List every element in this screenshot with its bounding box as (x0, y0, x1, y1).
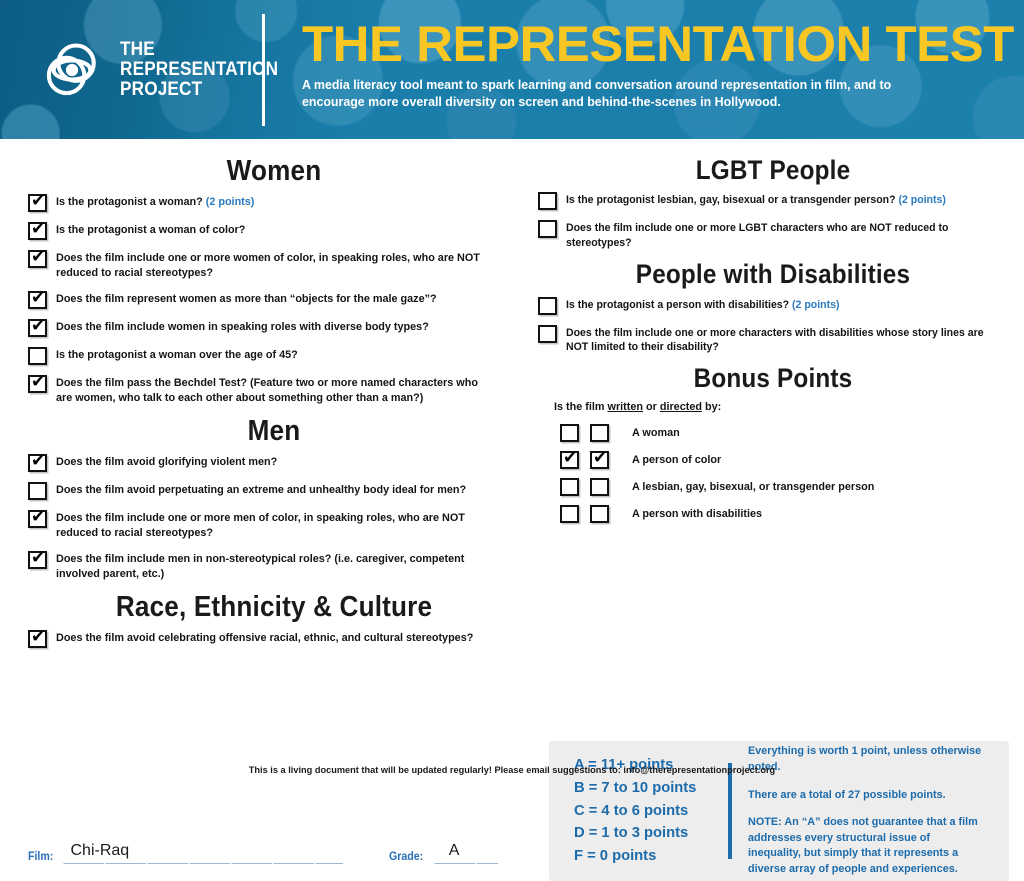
page-footer: This is a living document that will be u… (20, 765, 1003, 776)
checkbox-women-5[interactable] (28, 347, 47, 365)
checkmark-icon: ✔ (563, 449, 577, 467)
checkbox-women-4[interactable]: ✔ (28, 319, 47, 337)
checklist-row-label: Does the film avoid glorifying violent m… (56, 454, 277, 470)
checkbox-women-6[interactable]: ✔ (28, 375, 47, 393)
representation-project-logo-icon (38, 36, 106, 104)
question-list-race: ✔Does the film avoid celebrating offensi… (28, 630, 520, 648)
checkbox-cell (538, 192, 557, 210)
bonus-row[interactable]: A woman (560, 424, 1008, 442)
checkmark-icon: ✔ (31, 549, 45, 567)
checklist-row-label: Does the film include one or more men of… (56, 510, 497, 541)
checkmark-icon: ✔ (31, 192, 45, 210)
grading-scale-divider (728, 763, 732, 859)
checkmark-icon: ✔ (31, 248, 45, 266)
grade-input-value: A (449, 842, 460, 860)
grading-scale-line: F = 0 points (574, 845, 720, 868)
checklist-row-label: Is the protagonist lesbian, gay, bisexua… (566, 192, 946, 207)
checklist-row[interactable]: ✔Does the film represent women as more t… (28, 291, 520, 309)
checklist-row[interactable]: Does the film include one or more charac… (538, 325, 1008, 355)
grade-label: Grade: (389, 851, 423, 864)
checklist-row-points: (2 points) (792, 299, 839, 311)
checkbox-cell: ✔ (28, 319, 47, 337)
checkbox-disabilities-1[interactable] (538, 325, 557, 343)
checkbox-disabilities-0[interactable] (538, 297, 557, 315)
bonus-lead-written: written (608, 401, 643, 413)
checkbox-lgbt-1[interactable] (538, 220, 557, 238)
checklist-row-label: Is the protagonist a woman? (2 points) (56, 194, 254, 210)
checklist-row[interactable]: ✔Does the film pass the Bechdel Test? (F… (28, 375, 520, 406)
page-title: THE REPRESENTATION TEST (302, 19, 1016, 69)
checklist-row-question: Does the film include women in speaking … (56, 321, 429, 333)
checkbox-bonus-directed-0[interactable] (590, 424, 609, 442)
left-column: Women ✔Is the protagonist a woman? (2 po… (28, 147, 520, 658)
checklist-row-label: Does the film pass the Bechdel Test? (Fe… (56, 375, 497, 406)
checklist-row-question: Does the film include men in non-stereot… (56, 553, 464, 580)
checkbox-women-1[interactable]: ✔ (28, 222, 47, 240)
checklist-row-question: Is the protagonist a woman over the age … (56, 349, 298, 361)
checklist-row-question: Is the protagonist a woman? (56, 196, 206, 208)
question-list-women: ✔Is the protagonist a woman? (2 points)✔… (28, 194, 520, 405)
checklist-row[interactable]: ✔Does the film include men in non-stereo… (28, 551, 520, 582)
film-input[interactable]: Chi-Raq (62, 839, 342, 864)
checkbox-men-1[interactable] (28, 482, 47, 500)
checkmark-icon: ✔ (31, 508, 45, 526)
bonus-lead-mid: or (643, 401, 660, 413)
grading-scale-box: A = 11+ pointsB = 7 to 10 pointsC = 4 to… (549, 741, 1009, 881)
checkbox-women-2[interactable]: ✔ (28, 250, 47, 268)
checklist-row[interactable]: ✔Does the film include one or more women… (28, 250, 520, 281)
checklist-row-label: Does the film include women in speaking … (56, 319, 429, 335)
bonus-list: A woman✔✔A person of colorA lesbian, gay… (538, 424, 1008, 523)
checkbox-cell (538, 325, 557, 343)
bonus-row-label: A person with disabilities (632, 508, 762, 520)
question-list-lgbt: Is the protagonist lesbian, gay, bisexua… (538, 192, 1008, 250)
checkbox-bonus-directed-1[interactable]: ✔ (590, 451, 609, 469)
section-heading-men: Men (53, 416, 496, 446)
checklist-row-label: Does the film represent women as more th… (56, 291, 437, 307)
film-label: Film: (28, 851, 53, 864)
checkbox-bonus-directed-2[interactable] (590, 478, 609, 496)
checklist-row-question: Is the protagonist a person with disabil… (566, 299, 792, 311)
grading-scale-line: D = 1 to 3 points (574, 822, 720, 845)
checkmark-icon: ✔ (31, 628, 45, 646)
bonus-row[interactable]: A person with disabilities (560, 505, 1008, 523)
checklist-row[interactable]: Does the film avoid perpetuating an extr… (28, 482, 520, 500)
checkmark-icon: ✔ (593, 449, 607, 467)
checkbox-bonus-written-2[interactable] (560, 478, 579, 496)
checklist-row-question: Does the film include one or more charac… (566, 327, 984, 353)
bonus-row-label: A person of color (632, 454, 721, 466)
right-column: LGBT People Is the protagonist lesbian, … (538, 147, 1008, 532)
checkbox-bonus-written-1[interactable]: ✔ (560, 451, 579, 469)
checklist-row[interactable]: ✔Does the film include one or more men o… (28, 510, 520, 541)
checkmark-icon: ✔ (31, 289, 45, 307)
checkmark-icon: ✔ (31, 220, 45, 238)
bonus-lead-directed: directed (660, 401, 702, 413)
checklist-row-label: Does the film include one or more charac… (566, 325, 986, 355)
film-grade-form: Film: Chi-Raq Grade: A (28, 839, 498, 864)
question-list-men: ✔Does the film avoid glorifying violent … (28, 454, 520, 581)
brand-wordmark: THE REPRESENTATION PROJECT (120, 40, 278, 100)
checklist-row[interactable]: Is the protagonist a person with disabil… (538, 297, 1008, 315)
checklist-row-question: Does the film represent women as more th… (56, 293, 437, 305)
checkbox-cell (538, 220, 557, 238)
header-text-block: THE REPRESENTATION TEST A media literacy… (302, 19, 1002, 111)
checkbox-cell: ✔ (28, 454, 47, 472)
checkbox-cell: ✔ (28, 250, 47, 268)
checklist-row-points: (2 points) (898, 194, 945, 206)
checklist-row[interactable]: ✔Does the film avoid glorifying violent … (28, 454, 520, 472)
checkbox-cell (28, 347, 47, 365)
checkbox-cell: ✔ (28, 291, 47, 309)
checkbox-cell: ✔ (28, 375, 47, 393)
brand-logo-block: THE REPRESENTATION PROJECT (38, 36, 300, 104)
grading-scale-line: B = 7 to 10 points (574, 777, 720, 800)
checkmark-icon: ✔ (31, 317, 45, 335)
page-header: THE REPRESENTATION PROJECT THE REPRESENT… (0, 0, 1024, 139)
checklist-row-label: Does the film avoid perpetuating an extr… (56, 482, 466, 498)
checklist-row-label: Is the protagonist a person with disabil… (566, 297, 839, 312)
page-subtitle: A media literacy tool meant to spark lea… (302, 76, 904, 111)
checklist-row[interactable]: ✔Does the film include women in speaking… (28, 319, 520, 337)
checkbox-bonus-directed-3[interactable] (590, 505, 609, 523)
checklist-row-question: Does the film avoid celebrating offensiv… (56, 632, 473, 644)
checkbox-cell (28, 482, 47, 500)
checklist-row[interactable]: ✔Is the protagonist a woman of color? (28, 222, 520, 240)
checkbox-women-0[interactable]: ✔ (28, 194, 47, 212)
brand-wordmark-line1: THE (120, 40, 278, 60)
grading-note-line: There are a total of 27 possible points. (748, 788, 985, 804)
checklist-row-question: Does the film pass the Bechdel Test? (Fe… (56, 377, 478, 404)
brand-wordmark-line3: PROJECT (120, 80, 278, 100)
checklist-row[interactable]: Is the protagonist lesbian, gay, bisexua… (538, 192, 1008, 210)
section-heading-race: Race, Ethnicity & Culture (53, 592, 496, 622)
checklist-row-points: (2 points) (206, 196, 255, 208)
bonus-lead-post: by: (702, 401, 721, 413)
checklist-row-question: Is the protagonist lesbian, gay, bisexua… (566, 194, 898, 206)
checklist-row[interactable]: Is the protagonist a woman over the age … (28, 347, 520, 365)
grade-input[interactable]: A (433, 839, 498, 864)
section-heading-disabilities: People with Disabilities (562, 260, 985, 288)
checkbox-women-3[interactable]: ✔ (28, 291, 47, 309)
section-heading-women: Women (53, 156, 496, 186)
section-heading-bonus: Bonus Points (562, 364, 985, 392)
grading-scale-line: C = 4 to 6 points (574, 800, 720, 823)
checklist-row-question: Does the film avoid perpetuating an extr… (56, 484, 466, 496)
checklist-row-question: Does the film avoid glorifying violent m… (56, 456, 277, 468)
checklist-row-label: Does the film include men in non-stereot… (56, 551, 497, 582)
checkbox-men-0[interactable]: ✔ (28, 454, 47, 472)
checklist-row-question: Does the film include one or more men of… (56, 512, 465, 539)
checkbox-cell: ✔ (28, 630, 47, 648)
checkbox-men-3[interactable]: ✔ (28, 551, 47, 569)
brand-wordmark-line2: REPRESENTATION (120, 60, 278, 80)
checklist-row-label: Is the protagonist a woman over the age … (56, 347, 298, 363)
section-heading-lgbt: LGBT People (562, 156, 985, 184)
bonus-row-label: A woman (632, 427, 680, 439)
checkbox-cell: ✔ (28, 194, 47, 212)
checklist-row-question: Does the film include one or more women … (56, 252, 480, 279)
bonus-row[interactable]: A lesbian, gay, bisexual, or transgender… (560, 478, 1008, 496)
checkbox-men-2[interactable]: ✔ (28, 510, 47, 528)
bonus-lead-pre: Is the film (554, 401, 608, 413)
checklist-row-label: Does the film include one or more LGBT c… (566, 220, 986, 250)
bonus-lead-text: Is the film written or directed by: (554, 401, 985, 413)
checkbox-bonus-written-3[interactable] (560, 505, 579, 523)
checkmark-icon: ✔ (31, 452, 45, 470)
checkbox-race-0[interactable]: ✔ (28, 630, 47, 648)
question-list-disabilities: Is the protagonist a person with disabil… (538, 297, 1008, 355)
checkbox-lgbt-0[interactable] (538, 192, 557, 210)
checklist-row-label: Does the film include one or more women … (56, 250, 497, 281)
checkbox-bonus-written-0[interactable] (560, 424, 579, 442)
checkbox-cell: ✔ (28, 551, 47, 569)
checklist-sheet: Women ✔Is the protagonist a woman? (2 po… (0, 139, 1024, 791)
checkbox-cell: ✔ (28, 510, 47, 528)
header-vertical-divider (262, 14, 265, 126)
bonus-row-label: A lesbian, gay, bisexual, or transgender… (632, 481, 874, 493)
checklist-row[interactable]: ✔Does the film avoid celebrating offensi… (28, 630, 520, 648)
checklist-row[interactable]: ✔Is the protagonist a woman? (2 points) (28, 194, 520, 212)
film-input-value: Chi-Raq (70, 842, 129, 860)
bonus-row[interactable]: ✔✔A person of color (560, 451, 1008, 469)
checklist-row-question: Does the film include one or more LGBT c… (566, 222, 948, 248)
checklist-row-question: Is the protagonist a woman of color? (56, 224, 245, 236)
checklist-row-label: Does the film avoid celebrating offensiv… (56, 630, 473, 646)
checklist-row[interactable]: Does the film include one or more LGBT c… (538, 220, 1008, 250)
grading-note-line: NOTE: An “A” does not guarantee that a f… (748, 815, 985, 877)
checklist-row-label: Is the protagonist a woman of color? (56, 222, 245, 238)
checkmark-icon: ✔ (31, 373, 45, 391)
checkbox-cell: ✔ (28, 222, 47, 240)
checkbox-cell (538, 297, 557, 315)
